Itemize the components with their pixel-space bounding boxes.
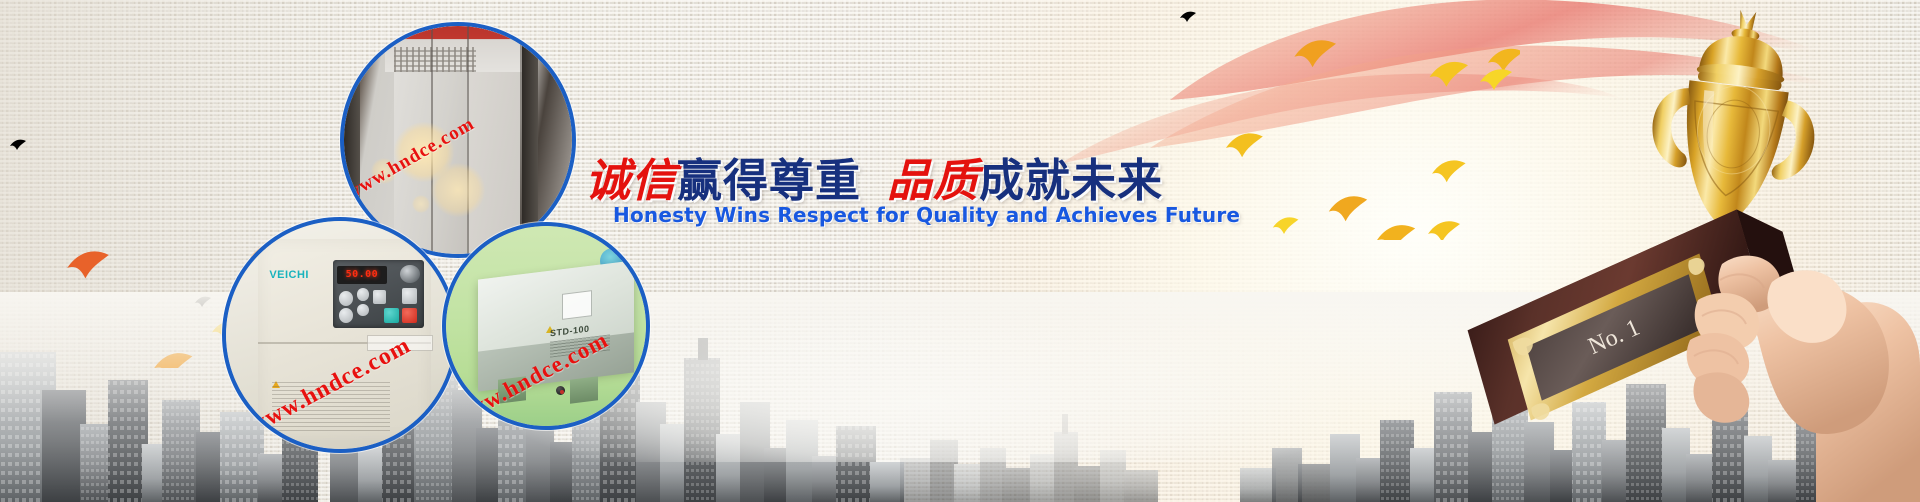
headline: 诚信 赢得尊重 品质 成就未来 [585,158,1163,203]
green-device-photo: STD-100 www.hndce.com [446,226,646,426]
product-circle-inverter[interactable]: VEICHI 50.00 www.hndce.com [222,217,458,453]
background-sun-glow [864,0,1920,502]
headline-segment-yingdezunzhong: 赢得尊重 [677,158,861,203]
inverter-photo: VEICHI 50.00 www.hndce.com [226,221,454,449]
cabinet-photo: www.hndce.com [344,26,572,254]
headline-segment-chengjiuweilai: 成就未来 [979,158,1163,203]
product-circle-green-device[interactable]: STD-100 www.hndce.com [442,222,650,430]
subtitle: Honesty Wins Respect for Quality and Ach… [613,203,1240,227]
inverter-brand-label: VEICHI [269,269,309,281]
inverter-keypad: 50.00 [333,260,424,328]
inverter-knob [400,265,420,283]
headline-segment-chengxin: 诚信 [585,158,677,203]
inverter-display-value: 50.00 [346,269,379,280]
inverter-led-display: 50.00 [337,266,387,284]
headline-segment-pinzhi: 品质 [887,158,979,203]
promo-banner: www.hndce.com VEICHI 50.00 [0,0,1920,502]
